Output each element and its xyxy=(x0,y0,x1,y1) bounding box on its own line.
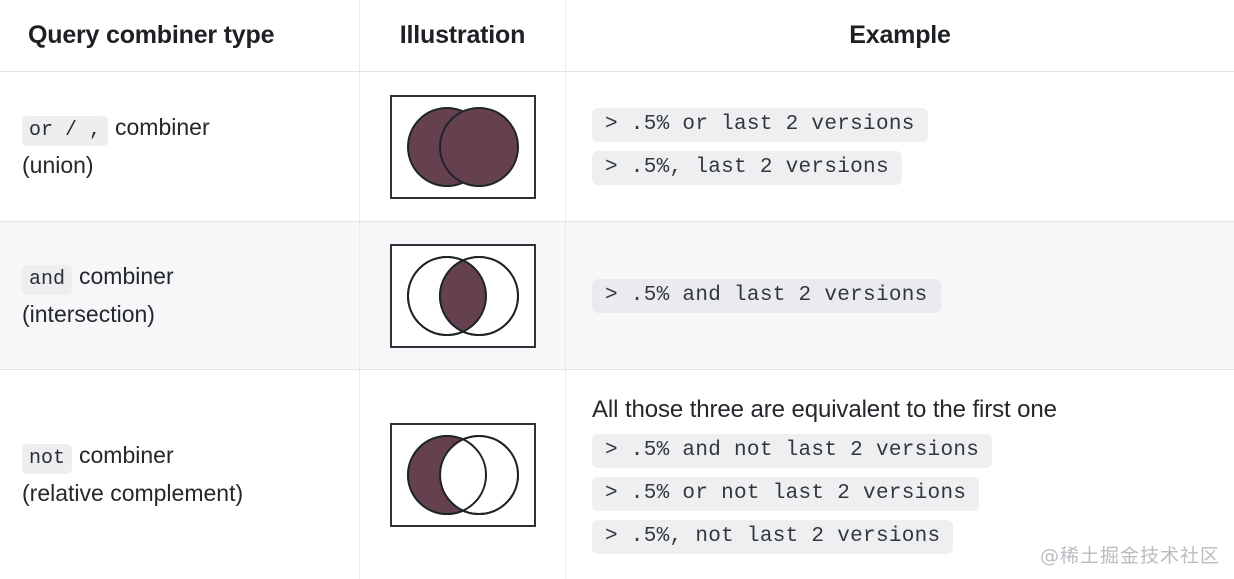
combiner-subtitle: (intersection) xyxy=(22,298,174,331)
table-row: notcombiner (relative complement) xyxy=(0,370,1234,579)
cell-combiner-type: or / ,combiner (union) xyxy=(0,72,360,221)
column-header-illustration: Illustration xyxy=(360,0,566,71)
column-header-example: Example xyxy=(566,0,1234,71)
cell-combiner-type: andcombiner (intersection) xyxy=(0,222,360,369)
table-row: or / ,combiner (union) > .5% or last 2 v… xyxy=(0,72,1234,222)
cell-example: All those three are equivalent to the fi… xyxy=(566,370,1234,579)
table-header-row: Query combiner type Illustration Example xyxy=(0,0,1234,72)
column-header-query-combiner-type: Query combiner type xyxy=(0,0,360,71)
combiner-keyword: not xyxy=(22,444,72,474)
cell-illustration xyxy=(360,222,566,369)
table-row: andcombiner (intersection) xyxy=(0,222,1234,370)
cell-example: > .5% or last 2 versions > .5%, last 2 v… xyxy=(566,72,1234,221)
cell-combiner-type: notcombiner (relative complement) xyxy=(0,370,360,579)
combiner-keyword-suffix: combiner xyxy=(79,263,174,289)
cell-example: > .5% and last 2 versions xyxy=(566,222,1234,369)
cell-illustration xyxy=(360,370,566,579)
combiner-keyword: or / , xyxy=(22,116,108,146)
example-note: All those three are equivalent to the fi… xyxy=(592,396,1057,424)
venn-intersection-icon xyxy=(390,244,536,348)
code-snippet: > .5%, not last 2 versions xyxy=(592,520,953,554)
combiner-subtitle: (relative complement) xyxy=(22,477,243,510)
code-snippet: > .5% or last 2 versions xyxy=(592,108,928,142)
code-snippet: > .5% and not last 2 versions xyxy=(592,434,992,468)
combiner-subtitle: (union) xyxy=(22,149,210,182)
combiner-keyword-suffix: combiner xyxy=(115,114,210,140)
venn-union-icon xyxy=(390,95,536,199)
venn-relative-complement-icon xyxy=(390,423,536,527)
cell-illustration xyxy=(360,72,566,221)
query-combiner-table: Query combiner type Illustration Example… xyxy=(0,0,1234,578)
code-snippet: > .5% and last 2 versions xyxy=(592,279,941,313)
combiner-keyword-suffix: combiner xyxy=(79,442,174,468)
code-snippet: > .5%, last 2 versions xyxy=(592,151,902,185)
combiner-keyword: and xyxy=(22,265,72,295)
code-snippet: > .5% or not last 2 versions xyxy=(592,477,979,511)
